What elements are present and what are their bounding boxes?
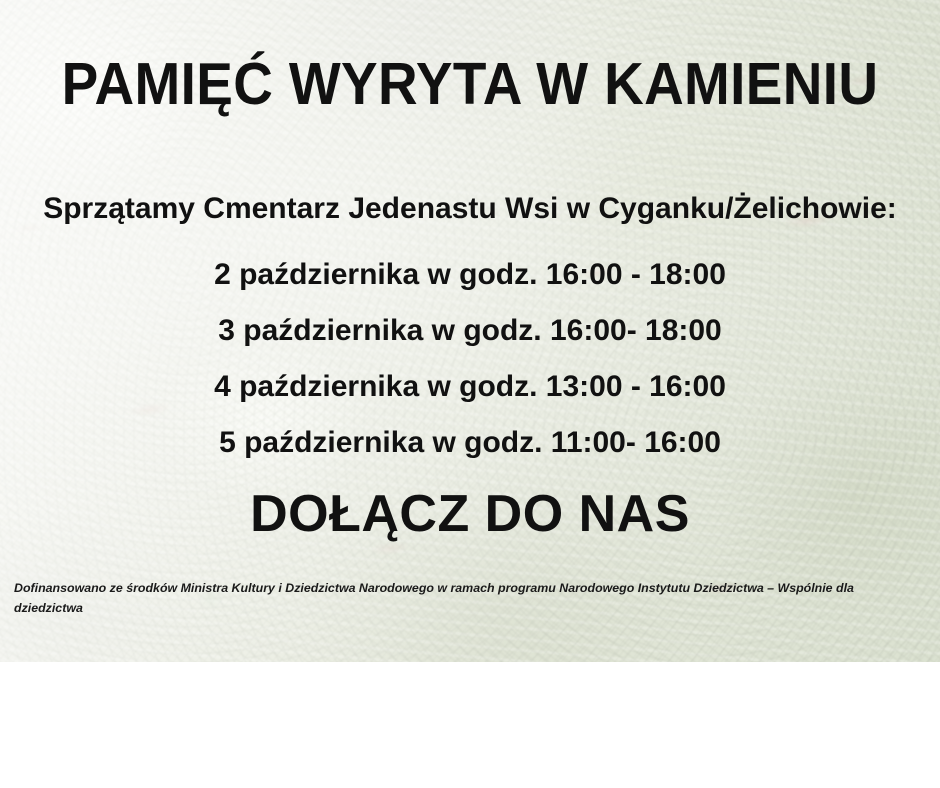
poster: PAMIĘĆ WYRYTA W KAMIENIU Sprzątamy Cment… (0, 0, 940, 788)
page-title: PAMIĘĆ WYRYTA W KAMIENIU (33, 50, 907, 118)
footer-logo-band: Ministerstwo Kultury i Dziedzictwa Narod… (0, 662, 940, 788)
schedule-item: 3 października w godz. 16:00- 18:00 (0, 303, 940, 359)
funding-note: Dofinansowano ze środków Ministra Kultur… (14, 578, 894, 618)
call-to-action: DOŁĄCZ DO NAS (0, 484, 940, 544)
schedule-item: 2 października w godz. 16:00 - 18:00 (0, 247, 940, 303)
schedule-item: 4 października w godz. 13:00 - 16:00 (0, 359, 940, 415)
poster-subtitle: Sprzątamy Cmentarz Jedenastu Wsi w Cygan… (0, 192, 940, 226)
poster-content: PAMIĘĆ WYRYTA W KAMIENIU Sprzątamy Cment… (0, 0, 940, 662)
schedule-list: 2 października w godz. 16:00 - 18:00 3 p… (0, 247, 940, 471)
schedule-item: 5 października w godz. 11:00- 16:00 (0, 415, 940, 471)
